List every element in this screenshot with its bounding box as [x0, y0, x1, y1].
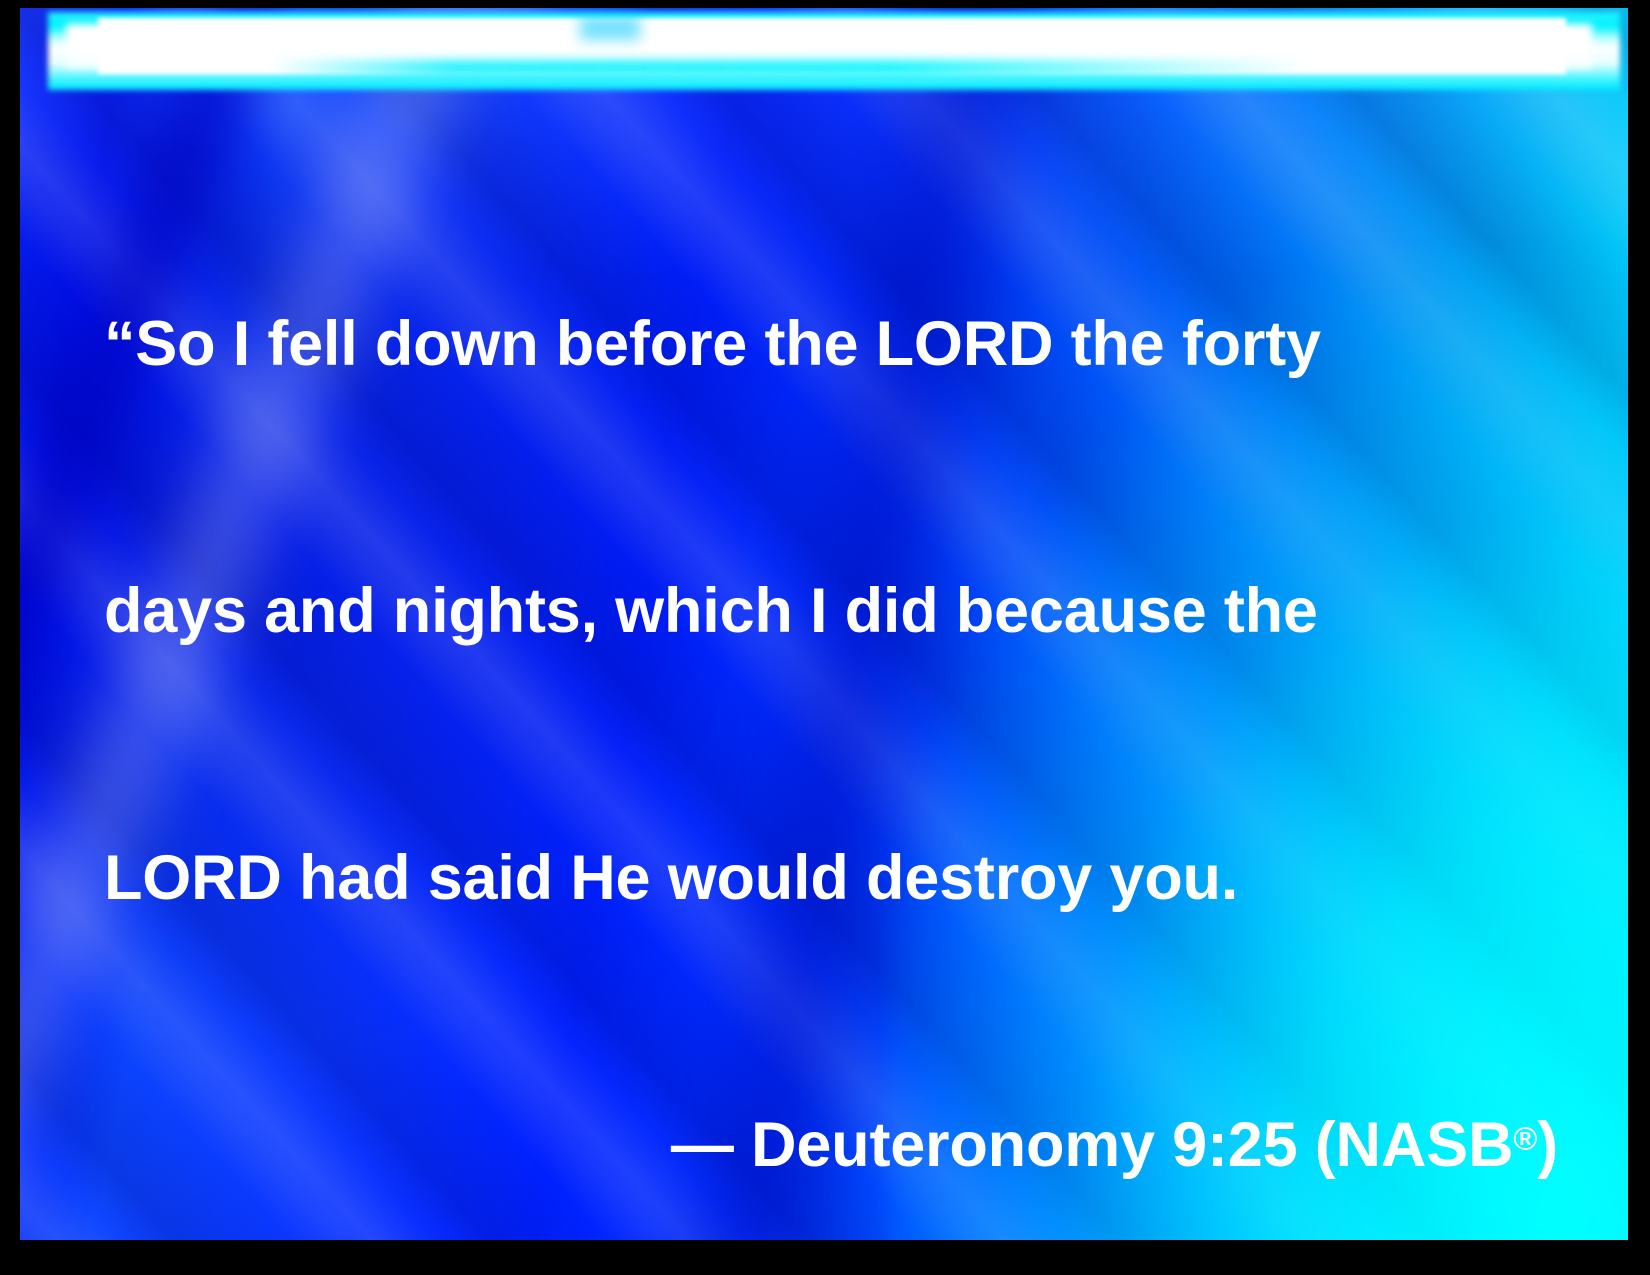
verse-citation: — Deuteronomy 9:25 (NASB®): [104, 1101, 1564, 1190]
top-highlight-bar: [20, 8, 1628, 104]
verse-line-3: LORD had said He would destroy you.: [104, 834, 1564, 923]
citation-reference-text: — Deuteronomy 9:25 (NASB: [671, 1110, 1513, 1180]
top-bar-notch: [580, 16, 640, 40]
verse-line-2: days and nights, which I did because the: [104, 567, 1564, 656]
registered-trademark-icon: ®: [1513, 1120, 1537, 1157]
bible-verse-slide: “So I fell down before the LORD the fort…: [0, 0, 1650, 1275]
verse-text-block: “So I fell down before the LORD the fort…: [104, 122, 1564, 1240]
top-bar-cyan-streak: [270, 60, 1308, 76]
slide-artwork-panel: “So I fell down before the LORD the fort…: [20, 8, 1628, 1240]
citation-closing-paren: ): [1537, 1110, 1558, 1180]
verse-line-1: “So I fell down before the LORD the fort…: [104, 300, 1564, 389]
